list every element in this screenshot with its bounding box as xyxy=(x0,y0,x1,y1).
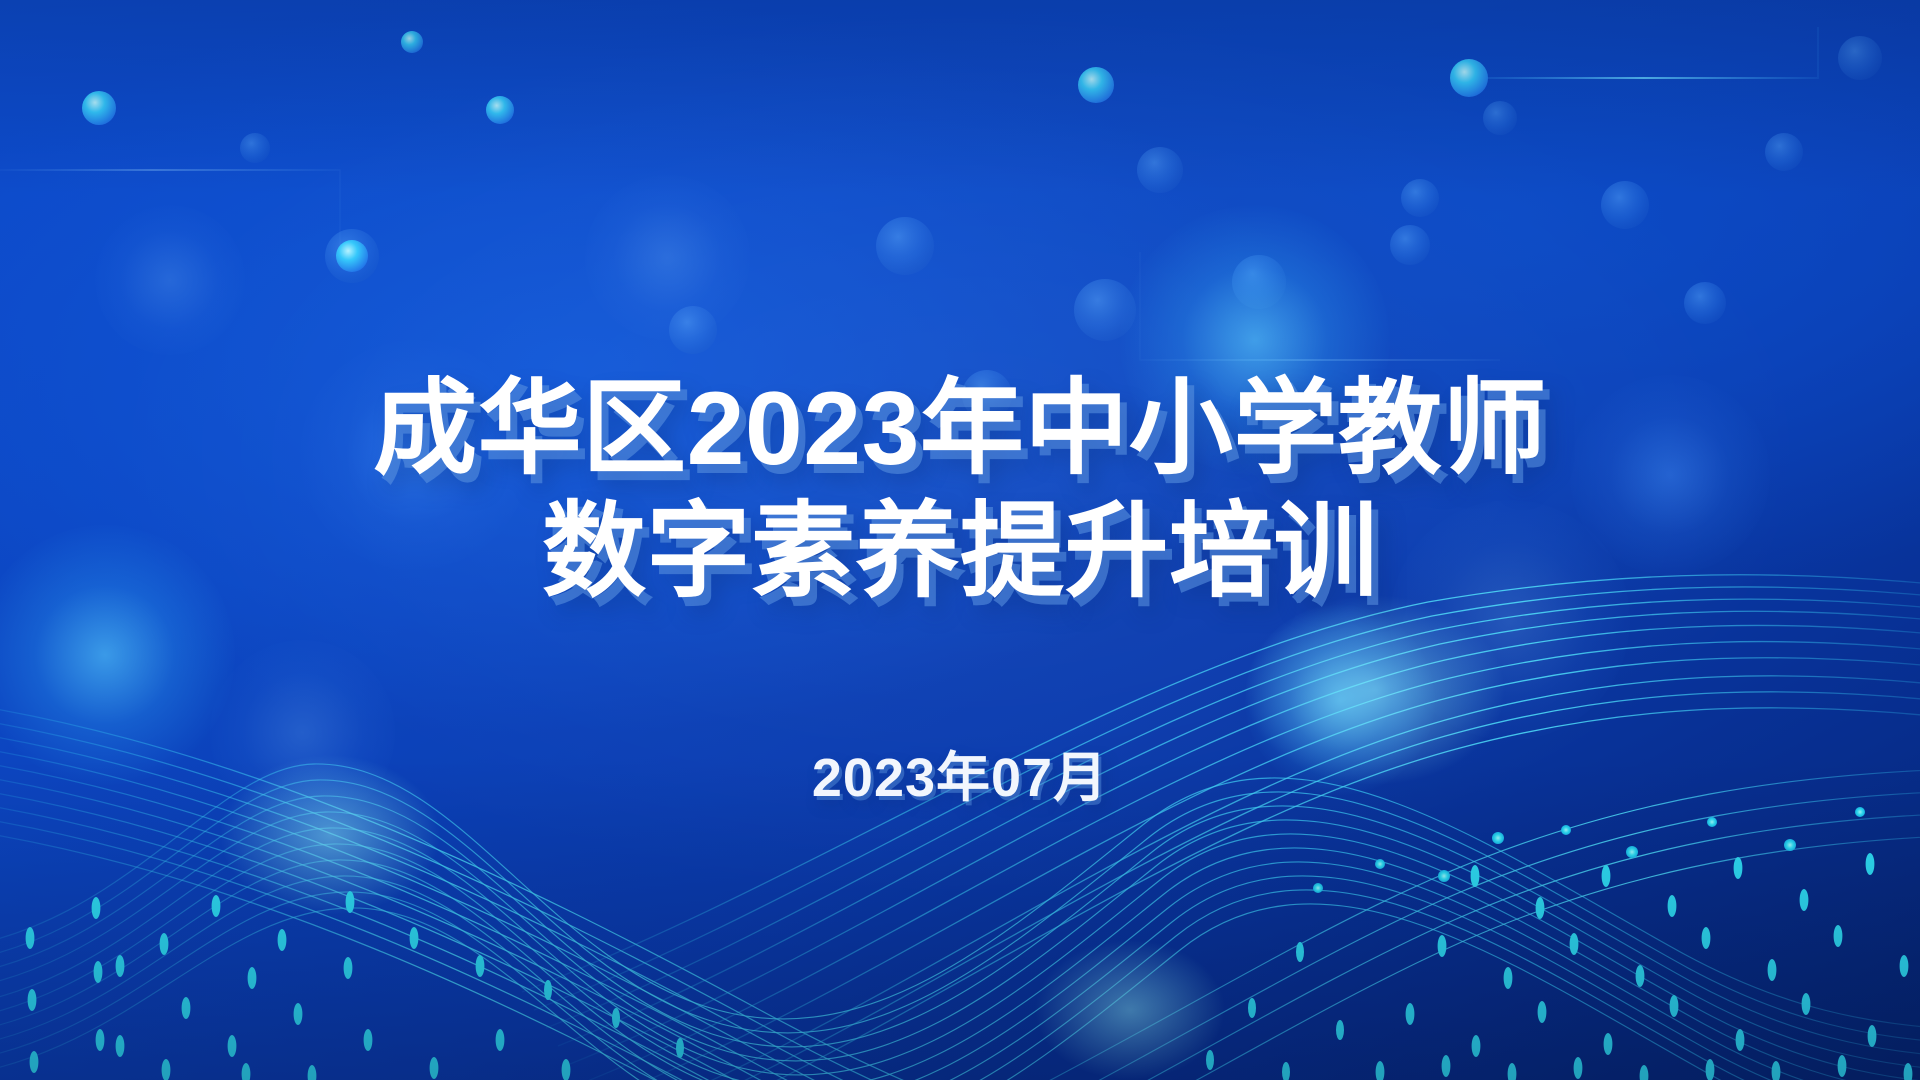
title-line-1: 成华区2023年中小学教师 xyxy=(373,368,1547,491)
page-title: 成华区2023年中小学教师 数字素养提升培训 xyxy=(373,368,1547,613)
title-slide: 成华区2023年中小学教师 数字素养提升培训 2023年07月 xyxy=(0,0,1920,1080)
title-line-2: 数字素养提升培训 xyxy=(373,491,1547,614)
slide-subtitle-date: 2023年07月 xyxy=(812,733,1108,812)
slide-content: 成华区2023年中小学教师 数字素养提升培训 2023年07月 xyxy=(0,0,1920,1080)
